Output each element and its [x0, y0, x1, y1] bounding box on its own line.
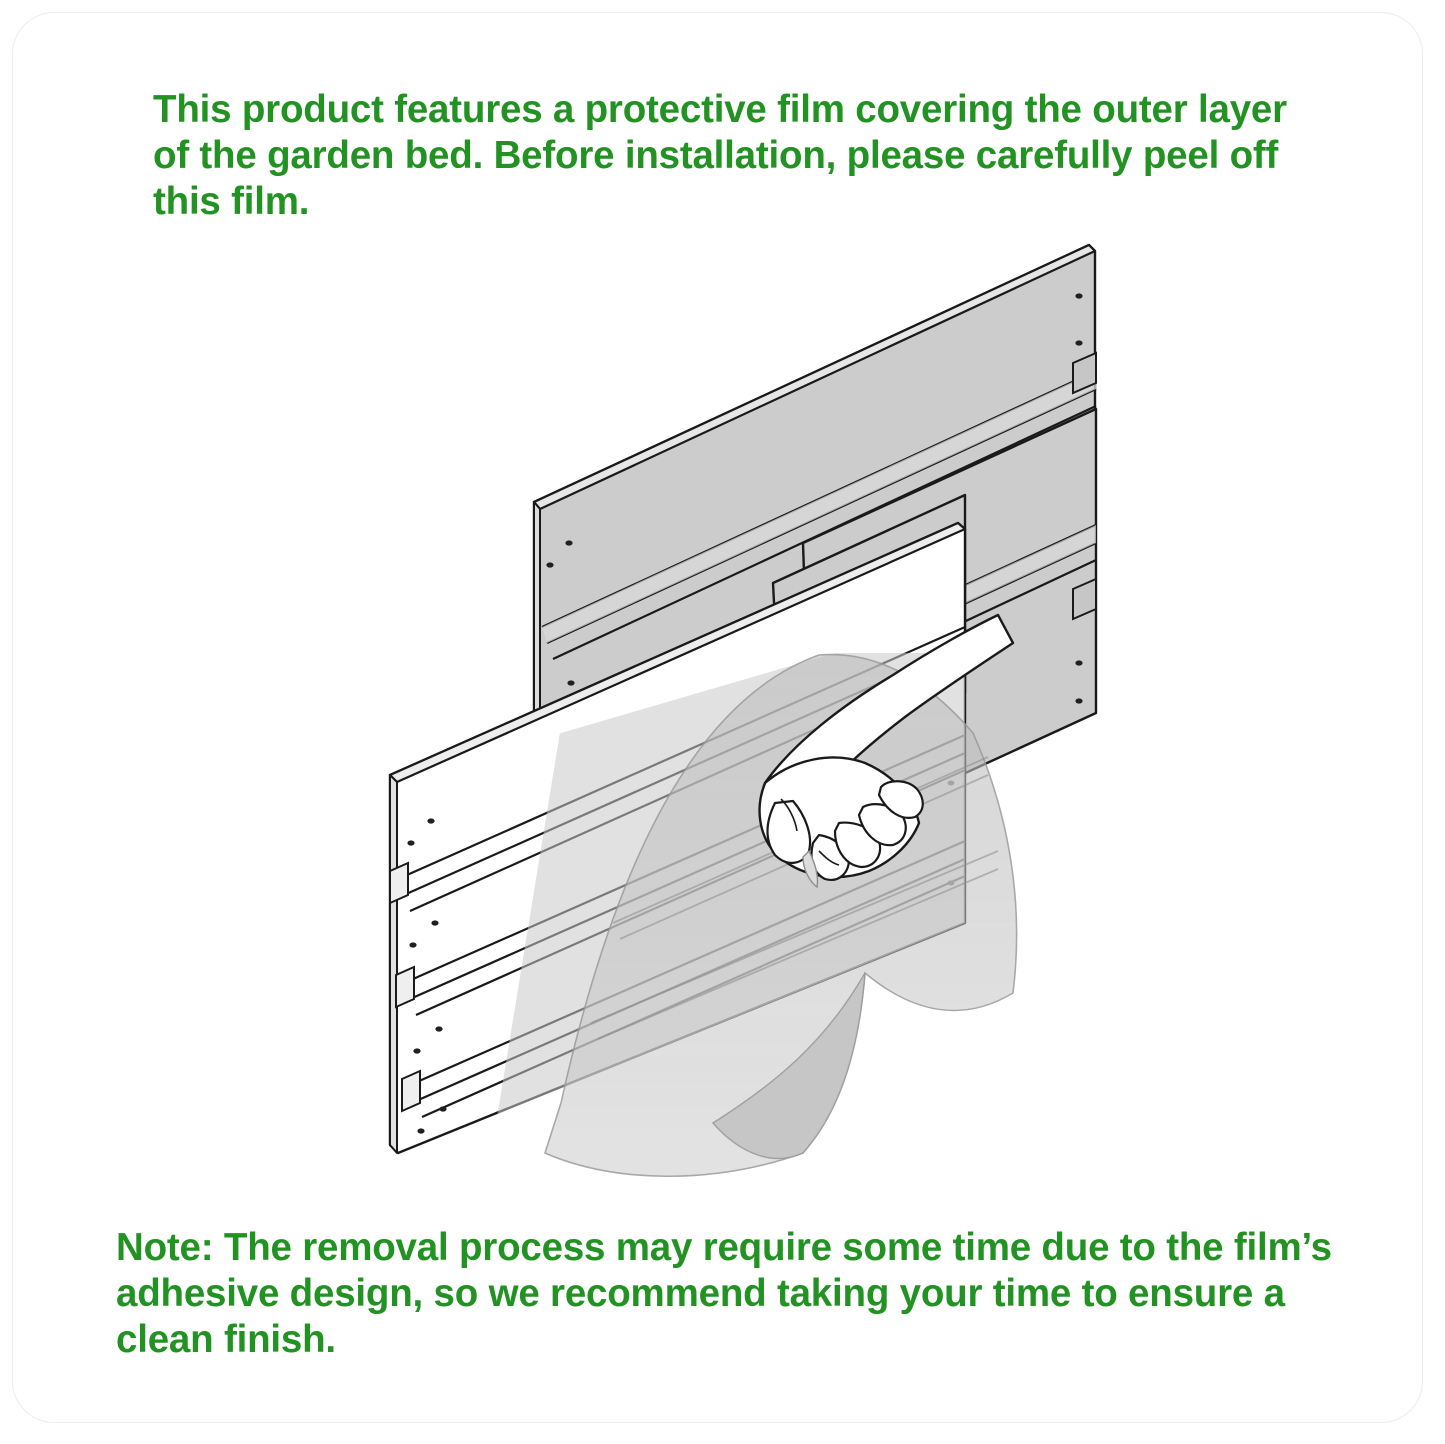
footer-note: Note: The removal process may require so… [116, 1225, 1356, 1363]
page-title: This product features a protective film … [153, 87, 1323, 225]
page-root: This product features a protective film … [0, 0, 1445, 1444]
instruction-card: This product features a protective film … [12, 12, 1423, 1423]
illustration-figure [13, 223, 1423, 1203]
